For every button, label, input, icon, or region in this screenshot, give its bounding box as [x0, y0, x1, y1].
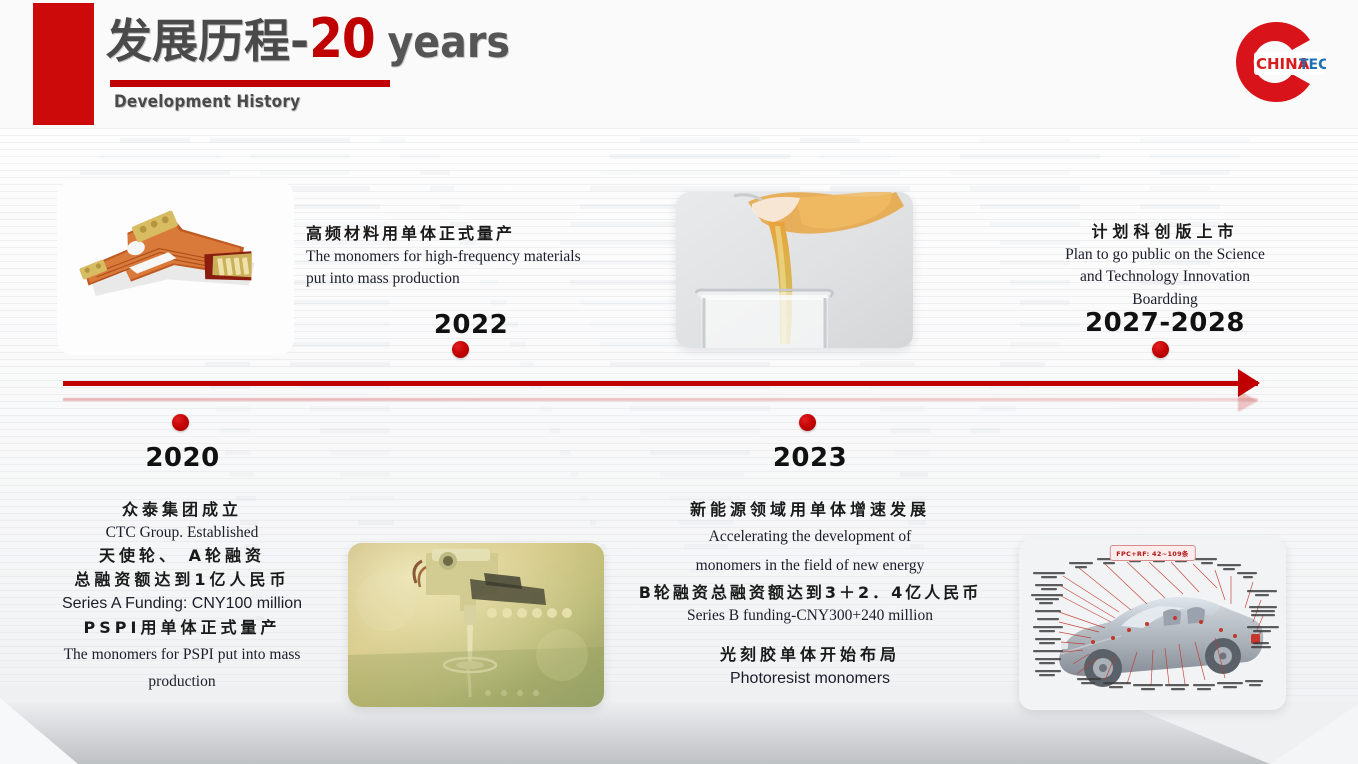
page-subtitle: Development History: [114, 92, 300, 112]
milestone-2020-line-3: 总融资额达到1亿人民币: [32, 568, 332, 592]
milestone-2023-text: 新能源领域用单体增速发展 Accelerating the developmen…: [605, 498, 1015, 691]
milestone-2022-line-1: The monomers for high-frequency material…: [306, 246, 636, 268]
milestone-2020-line-7: production: [32, 670, 332, 695]
timeline-dot-2020[interactable]: [172, 414, 189, 431]
milestone-2020-line-6: The monomers for PSPI put into mass: [32, 640, 332, 670]
milestone-2023-line-2: monomers in the field of new energy: [605, 551, 1015, 580]
milestone-2020-line-1: CTC Group. Established: [32, 522, 332, 544]
milestone-2020-text: 众泰集团成立 CTC Group. Established 天使轮、 A轮融资 …: [32, 498, 332, 695]
beaker-graphic: [676, 192, 913, 348]
milestone-2020-year: 2020: [60, 443, 305, 473]
title-chinese: 发展历程-: [106, 14, 309, 68]
milestone-2023-line-4: Series B funding-CNY300+240 million: [605, 605, 1015, 627]
timeline-dot-2023[interactable]: [799, 414, 816, 431]
timeline-axis: [63, 381, 1258, 386]
timeline-dot-2022[interactable]: [452, 341, 469, 358]
milestone-2023-year: 2023: [690, 443, 930, 473]
milestone-2023-line-6: Photoresist monomers: [605, 667, 1015, 690]
milestone-2027-2028-year: 2027-2028: [1030, 308, 1300, 338]
milestone-2027-line-2: and Technology Innovation: [1030, 266, 1300, 288]
car-diagram-graphic: [1019, 538, 1286, 710]
milestone-2027-line-1: Plan to go public on the Science: [1030, 244, 1300, 266]
machine-graphic: [348, 543, 604, 707]
dispensing-machine-photo: [348, 543, 604, 707]
title-underline-rule: [110, 80, 390, 87]
flexible-pcb-graphic: [57, 181, 294, 355]
timeline-arrowhead-reflection: [1238, 390, 1258, 412]
page-title: 发展历程-20 years: [106, 12, 510, 66]
milestone-2023-line-3: B轮融资总融资额达到3＋2．4亿人民币: [605, 581, 1015, 605]
milestone-2022-year: 2022: [306, 310, 636, 340]
header-red-accent-block: [33, 3, 94, 125]
milestone-2020-line-4: Series A Funding: CNY100 million: [32, 592, 332, 615]
amber-liquid-beaker-photo: [676, 192, 913, 348]
car-diagram-badge: FPC+RF: 42~109条: [1109, 545, 1195, 561]
milestone-2022-line-2: put into mass production: [306, 268, 636, 290]
title-years: years: [387, 17, 509, 68]
chinatech-logo: CHINA TECH: [1226, 16, 1326, 112]
milestone-2027-2028-text: 计划科创版上市 Plan to go public on the Science…: [1030, 220, 1300, 311]
milestone-2023-line-0: 新能源领域用单体增速发展: [605, 498, 1015, 522]
logo-mark: CHINA TECH: [1226, 16, 1326, 112]
title-line: 发展历程-20 years: [106, 12, 510, 66]
milestone-2020-line-5: PSPI用单体正式量产: [32, 616, 332, 640]
milestone-2020-line-0: 众泰集团成立: [32, 498, 332, 522]
logo-text-tech: TECH: [1299, 57, 1326, 73]
milestone-2023-line-5: 光刻胶单体开始布局: [605, 643, 1015, 667]
timeline-dot-2027-2028[interactable]: [1152, 341, 1169, 358]
flexible-pcb-photo: [57, 181, 294, 355]
milestone-2022-line-0: 高频材料用单体正式量产: [306, 222, 636, 246]
title-number: 20: [309, 7, 375, 70]
milestone-2023-line-1: Accelerating the development of: [605, 522, 1015, 551]
milestone-2022-text: 高频材料用单体正式量产 The monomers for high-freque…: [306, 222, 636, 291]
milestone-2027-line-0: 计划科创版上市: [1030, 220, 1300, 244]
timeline-axis-reflection: [63, 398, 1258, 401]
automotive-fpc-diagram: FPC+RF: 42~109条: [1019, 538, 1286, 710]
slide-canvas: 发展历程-20 years Development History CHINA …: [0, 0, 1358, 764]
milestone-2020-line-2: 天使轮、 A轮融资: [32, 544, 332, 568]
